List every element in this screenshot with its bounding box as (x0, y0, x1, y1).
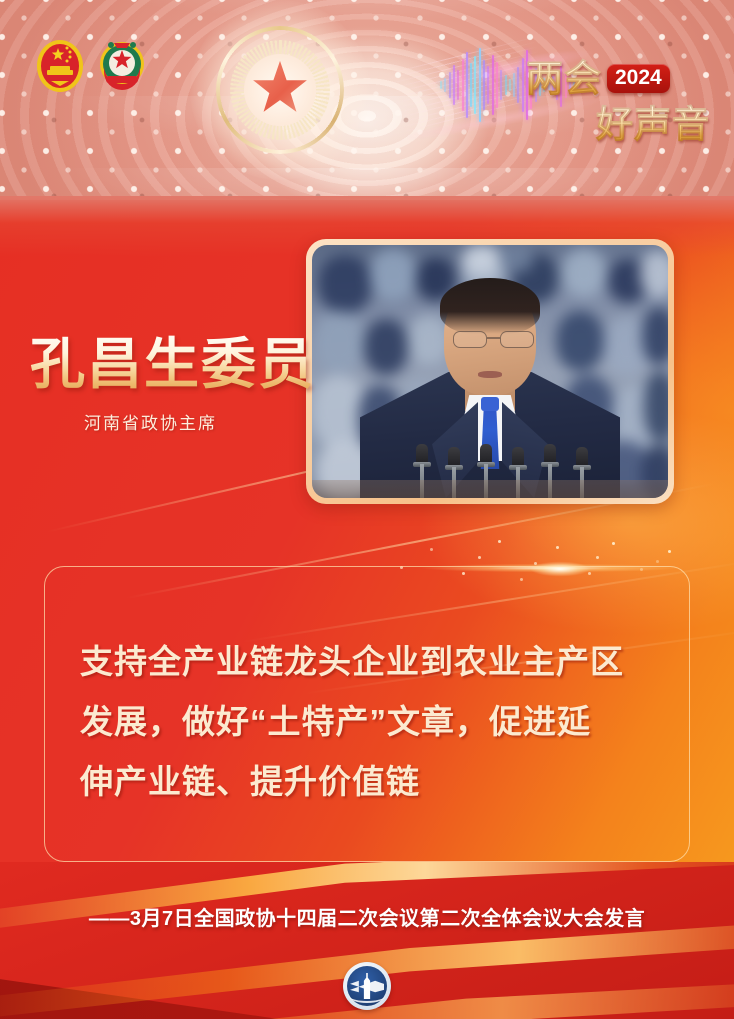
waveform-bar (453, 65, 455, 105)
sparkle (478, 556, 481, 559)
attribution-line: ——3月7日全国政协十四届二次会议第二次全体会议大会发言 (0, 902, 734, 931)
crowd-blob (318, 255, 372, 313)
sparkle (656, 560, 659, 563)
sparkle (498, 540, 501, 543)
photo-glasses-bridge (487, 337, 500, 339)
waveform-bar (483, 60, 485, 110)
waveform-bar (457, 70, 459, 100)
waveform-bar (500, 70, 502, 100)
waveform-bar (466, 52, 468, 118)
sparkle (596, 556, 599, 559)
waveform-bar (492, 55, 494, 115)
quote-line-1: 支持全产业链龙头企业到农业主产区 (80, 632, 670, 692)
brand-title-lianghui: 两会 (526, 57, 602, 101)
brand-row-top: 两会 2024 (526, 56, 712, 102)
crowd-blob (462, 245, 502, 275)
quote-text: 支持全产业链龙头企业到农业主产区发展，做好“土特产”文章，促进延伸产业链、提升价… (80, 632, 670, 812)
henan-daily-emblem-icon (343, 962, 391, 1010)
photo-glasses-right (500, 331, 534, 348)
waveform-bar (487, 66, 489, 104)
photo-glasses-left (453, 331, 487, 348)
waveform-bar (470, 63, 472, 107)
crowd-blob (642, 307, 668, 365)
poster-root: 两会 2024 好声音 (0, 0, 734, 1019)
waveform-bar (505, 75, 507, 95)
quote-line-2: 发展，做好“土特产”文章，促进延 (80, 692, 670, 752)
waveform-bar (496, 62, 498, 108)
sparkle (430, 548, 433, 551)
cppcc-emblem-icon (96, 36, 148, 96)
speaker-name: 孔昌生委员 (30, 333, 315, 395)
waveform-bar (474, 56, 476, 114)
photo-necktie-knot (481, 397, 499, 411)
great-hall-ceiling-star-icon (214, 24, 346, 156)
crowd-blob (640, 251, 668, 297)
sparkle (612, 542, 615, 545)
waveform-bar (444, 78, 446, 92)
crowd-blob (314, 311, 364, 373)
waveform-bar (449, 72, 451, 98)
brand-lockup: 两会 2024 好声音 (526, 56, 712, 148)
speaker-photo-frame (306, 239, 674, 504)
photo-hair (440, 278, 540, 334)
crowd-blob (364, 319, 408, 375)
sparkle (534, 562, 537, 565)
crowd-blob (556, 311, 604, 371)
waveform-bar (479, 48, 481, 122)
photo-podium (312, 480, 668, 498)
sparkle (556, 546, 559, 549)
waveform-bar (517, 67, 519, 103)
waveform-bar (440, 81, 442, 89)
crowd-blob (498, 245, 534, 273)
speaker-photo (312, 245, 668, 498)
sparkle (668, 550, 671, 553)
waveform-bar (509, 79, 511, 91)
waveform-bar (522, 58, 524, 112)
emblem-group (34, 36, 148, 96)
waveform-bar (513, 73, 515, 97)
crowd-blob (370, 249, 416, 301)
brand-title-haoshengyin: 好声音 (526, 103, 712, 147)
crowd-blob (562, 249, 606, 297)
waveform-bar (462, 59, 464, 111)
year-badge: 2024 (607, 64, 670, 93)
national-emblem-of-china-icon (34, 36, 86, 96)
photo-mouth (478, 371, 502, 378)
speaker-title: 河南省政协主席 (84, 412, 217, 436)
crowd-blob (644, 371, 668, 441)
quote-line-3: 伸产业链、提升价值链 (80, 752, 670, 812)
